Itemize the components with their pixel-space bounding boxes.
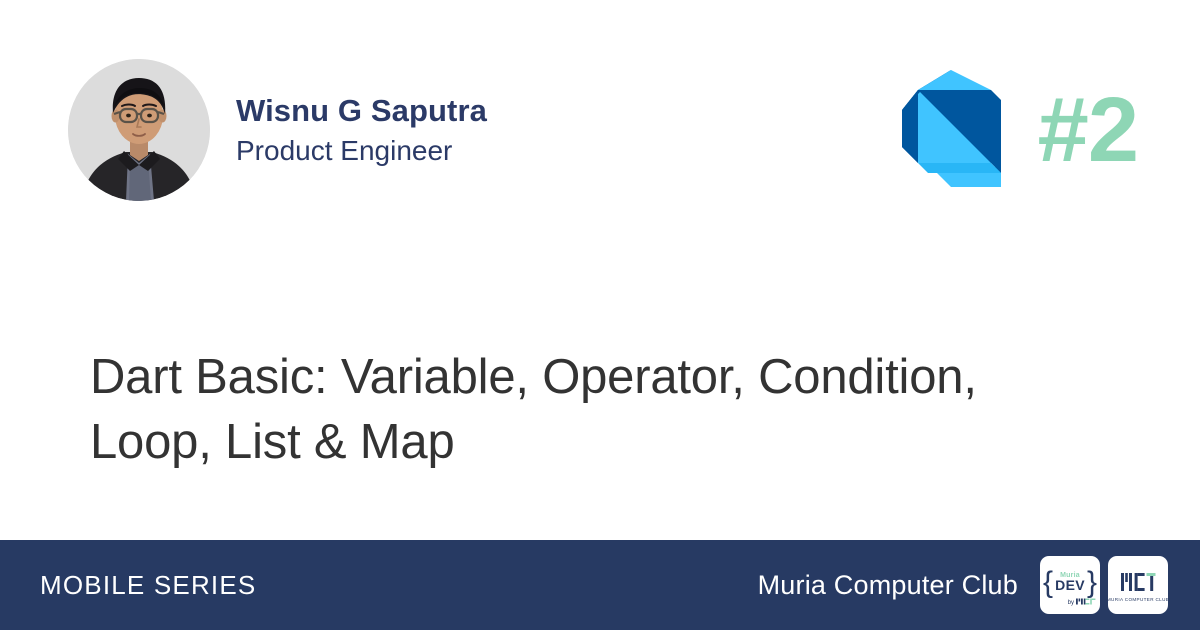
- svg-text:by: by: [1068, 600, 1074, 606]
- brand-block: #2: [888, 68, 1138, 192]
- main-content: Dart Basic: Variable, Operator, Conditio…: [90, 312, 1100, 507]
- footer-logos: { } Muria DEV by: [1040, 556, 1168, 614]
- muria-dev-logo: { } Muria DEV by: [1040, 556, 1100, 614]
- slide-root: Wisnu G Saputra Product Engineer: [0, 0, 1200, 630]
- episode-number: #2: [1038, 84, 1138, 176]
- author-name: Wisnu G Saputra: [236, 93, 487, 129]
- author-text: Wisnu G Saputra Product Engineer: [236, 93, 487, 167]
- svg-text:}: }: [1087, 566, 1097, 599]
- footer-series-label: MOBILE SERIES: [40, 570, 256, 601]
- footer-organization: Muria Computer Club: [758, 570, 1018, 601]
- dart-logo: [888, 68, 1016, 192]
- footer: MOBILE SERIES Muria Computer Club { } Mu…: [0, 540, 1200, 630]
- author-block: Wisnu G Saputra Product Engineer: [68, 59, 487, 201]
- svg-text:MURIA COMPUTER CLUB: MURIA COMPUTER CLUB: [1108, 597, 1168, 602]
- muria-computer-club-logo: MURIA COMPUTER CLUB: [1108, 556, 1168, 614]
- author-role: Product Engineer: [236, 135, 487, 167]
- svg-text:{: {: [1043, 566, 1053, 599]
- avatar: [68, 59, 210, 201]
- footer-right: Muria Computer Club { } Muria DEV by: [758, 556, 1168, 614]
- header: Wisnu G Saputra Product Engineer: [68, 52, 1138, 208]
- slide-title: Dart Basic: Variable, Operator, Conditio…: [90, 345, 1100, 474]
- svg-text:DEV: DEV: [1055, 577, 1085, 593]
